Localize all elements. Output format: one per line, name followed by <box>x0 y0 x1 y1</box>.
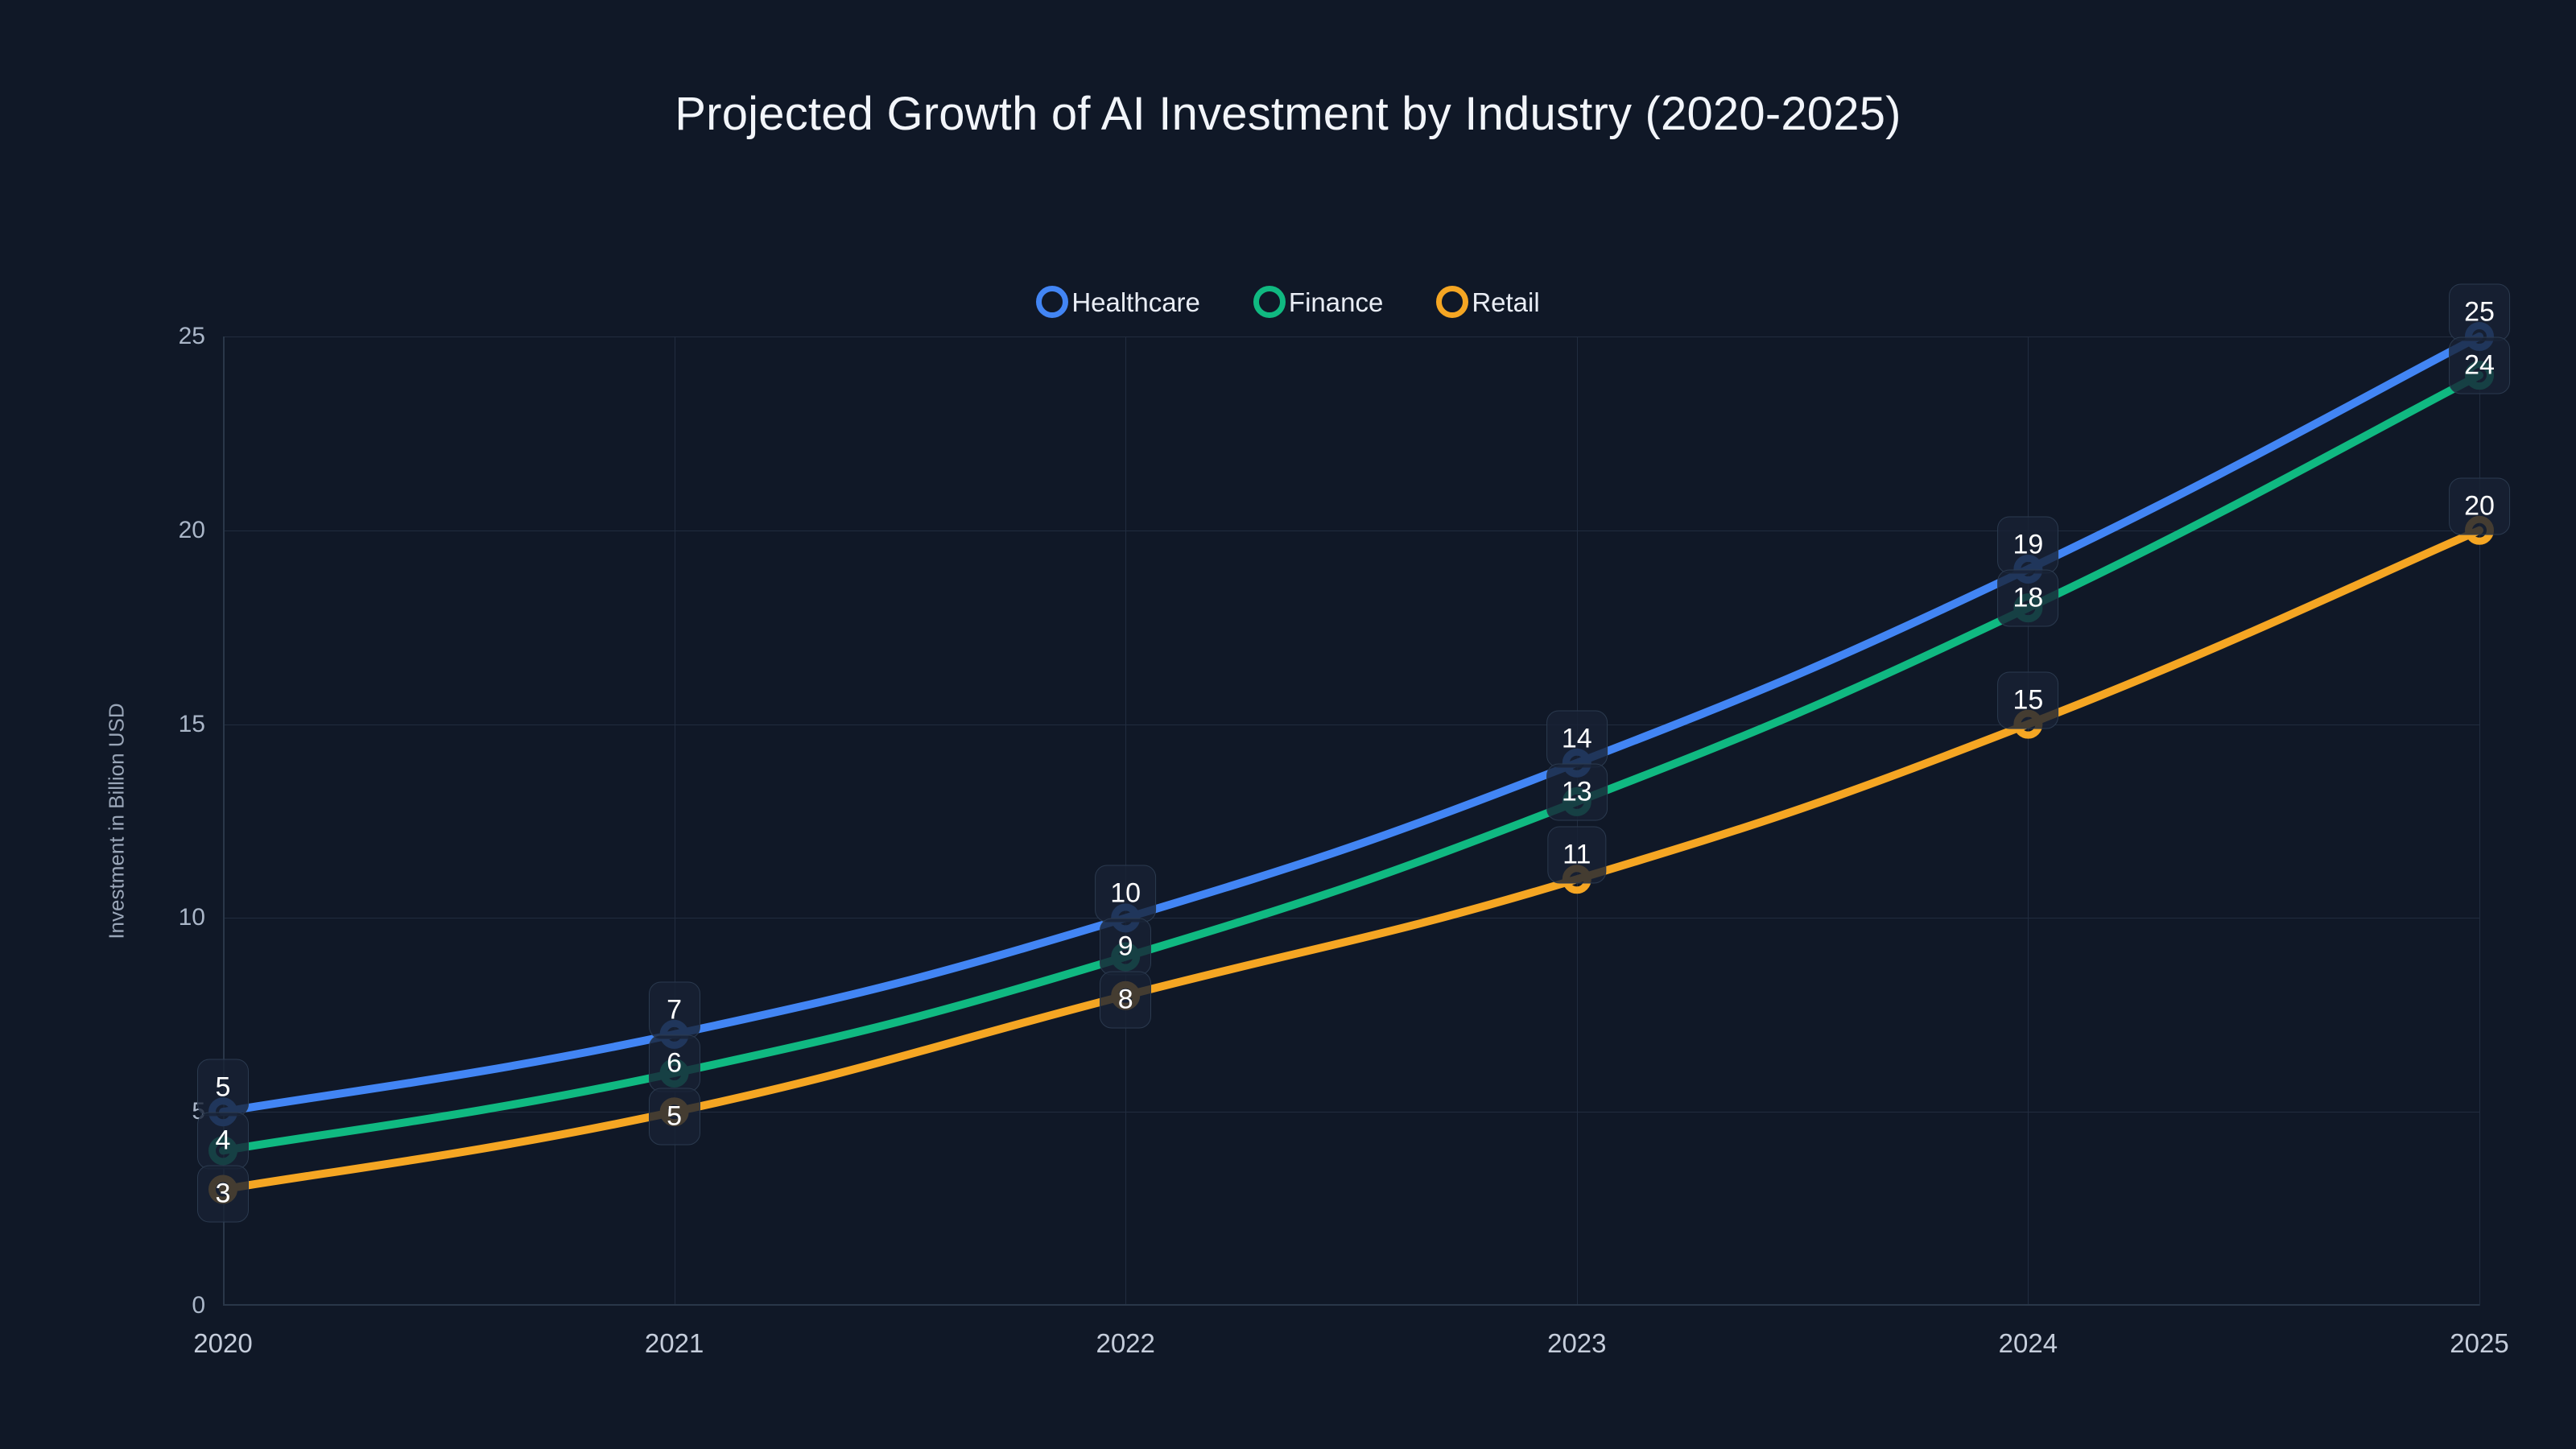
legend-marker-icon <box>1253 286 1286 318</box>
plot-area <box>223 336 2479 1306</box>
legend-marker-icon <box>1436 286 1468 318</box>
data-label-healthcare: 14 <box>1546 710 1608 767</box>
data-label-finance: 9 <box>1100 919 1151 976</box>
legend-label: Retail <box>1472 289 1539 316</box>
series-line-finance <box>223 375 2479 1150</box>
series-line-retail <box>223 530 2479 1190</box>
data-label-finance: 13 <box>1546 763 1608 820</box>
data-label-retail: 5 <box>649 1088 700 1145</box>
data-label-finance: 24 <box>2449 337 2510 394</box>
chart-container: Projected Growth of AI Investment by Ind… <box>0 0 2576 1449</box>
data-label-healthcare: 25 <box>2449 284 2510 341</box>
x-tick-label: 2020 <box>193 1328 252 1359</box>
data-label-retail: 8 <box>1100 972 1151 1029</box>
series-lines <box>223 336 2479 1306</box>
series-line-healthcare <box>223 336 2479 1112</box>
legend-label: Finance <box>1289 289 1383 316</box>
x-tick-label: 2025 <box>2450 1328 2508 1359</box>
chart-legend: HealthcareFinanceRetail <box>0 286 2576 318</box>
data-label-finance: 18 <box>1997 569 2058 626</box>
legend-item-retail[interactable]: Retail <box>1436 286 1539 318</box>
x-tick-label: 2021 <box>645 1328 704 1359</box>
x-tick-label: 2023 <box>1547 1328 1606 1359</box>
data-label-healthcare: 5 <box>197 1059 249 1117</box>
data-label-finance: 6 <box>649 1034 700 1092</box>
x-tick-label: 2024 <box>1999 1328 2058 1359</box>
data-label-finance: 4 <box>197 1113 249 1170</box>
data-label-retail: 11 <box>1547 827 1606 884</box>
data-label-healthcare: 19 <box>1997 516 2058 573</box>
y-tick-label: 0 <box>121 1292 205 1319</box>
data-label-healthcare: 7 <box>649 981 700 1038</box>
data-label-retail: 20 <box>2449 477 2510 535</box>
chart-title: Projected Growth of AI Investment by Ind… <box>0 87 2576 141</box>
data-label-healthcare: 10 <box>1095 865 1156 923</box>
legend-item-healthcare[interactable]: Healthcare <box>1036 286 1200 318</box>
y-tick-label: 20 <box>121 517 205 544</box>
legend-item-finance[interactable]: Finance <box>1253 286 1383 318</box>
y-tick-label: 25 <box>121 323 205 350</box>
x-tick-label: 2022 <box>1096 1328 1154 1359</box>
legend-label: Healthcare <box>1071 289 1200 316</box>
data-label-retail: 3 <box>197 1166 249 1223</box>
y-tick-label: 15 <box>121 711 205 738</box>
y-tick-label: 5 <box>121 1098 205 1125</box>
legend-marker-icon <box>1036 286 1068 318</box>
y-tick-label: 10 <box>121 904 205 931</box>
data-label-retail: 15 <box>1997 671 2058 729</box>
